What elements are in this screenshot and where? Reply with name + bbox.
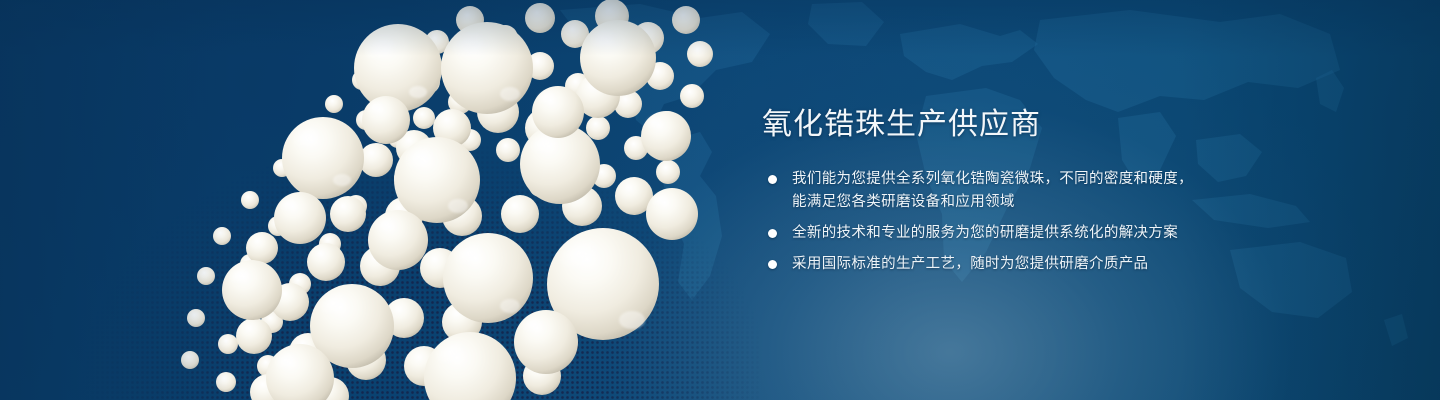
list-item-line2: 能满足您各类研磨设备和应用领域 [792, 191, 1382, 214]
list-item-line1: 我们能为您提供全系列氧化锆陶瓷微珠，不同的密度和硬度， [792, 171, 1193, 187]
page-title: 氧化锆珠生产供应商 [762, 104, 1382, 146]
banner-copy: 氧化锆珠生产供应商 我们能为您提供全系列氧化锆陶瓷微珠，不同的密度和硬度， 能满… [762, 104, 1382, 276]
list-item: 全新的技术和专业的服务为您的研磨提供系统化的解决方案 [762, 222, 1382, 245]
bullet-dot-icon [768, 175, 777, 184]
bullet-dot-icon [768, 229, 777, 238]
list-item-line1: 全新的技术和专业的服务为您的研磨提供系统化的解决方案 [792, 225, 1178, 241]
list-item: 采用国际标准的生产工艺，随时为您提供研磨介质产品 [762, 253, 1382, 276]
hero-banner: 氧化锆珠生产供应商 我们能为您提供全系列氧化锆陶瓷微珠，不同的密度和硬度， 能满… [0, 0, 1440, 400]
bullet-dot-icon [768, 260, 777, 269]
zirconia-beads-image [0, 0, 740, 400]
feature-list: 我们能为您提供全系列氧化锆陶瓷微珠，不同的密度和硬度， 能满足您各类研磨设备和应… [762, 168, 1382, 276]
list-item-line1: 采用国际标准的生产工艺，随时为您提供研磨介质产品 [792, 256, 1148, 272]
list-item: 我们能为您提供全系列氧化锆陶瓷微珠，不同的密度和硬度， 能满足您各类研磨设备和应… [762, 168, 1382, 214]
